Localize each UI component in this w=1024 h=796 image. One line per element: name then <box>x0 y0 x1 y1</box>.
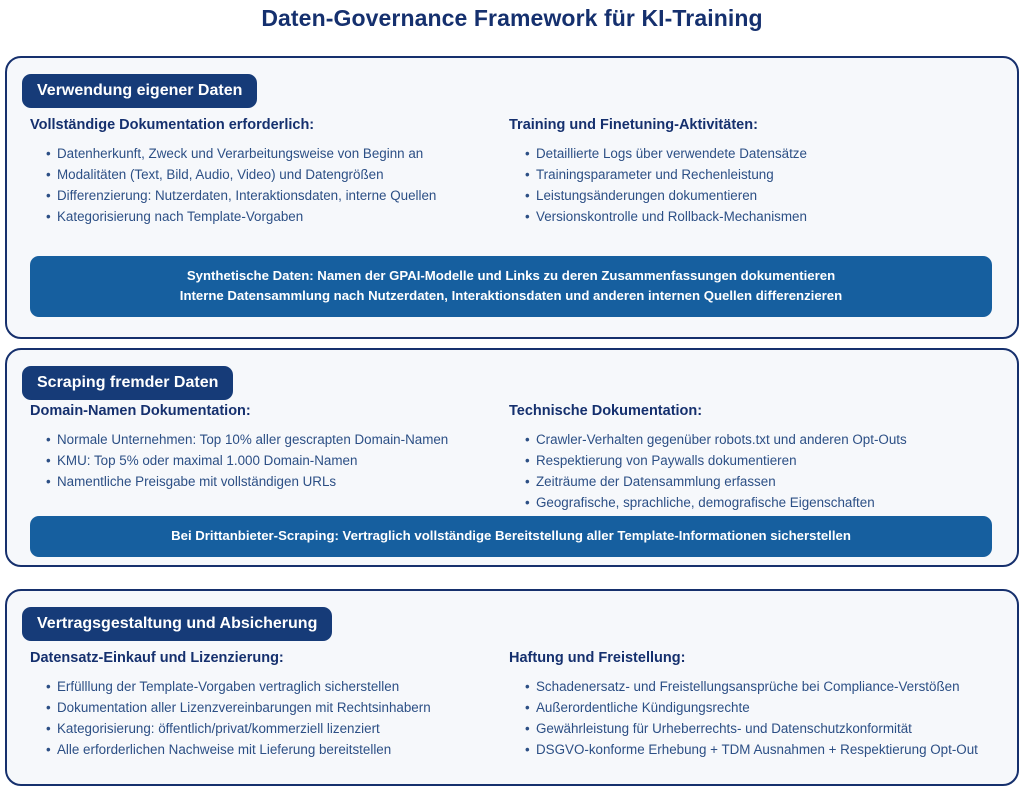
list-item: KMU: Top 5% oder maximal 1.000 Domain-Na… <box>46 450 504 471</box>
list-item: Zeiträume der Datensammlung erfassen <box>525 471 1017 492</box>
column-left: Vollständige Dokumentation erforderlich:… <box>7 116 504 227</box>
list-item: Leistungsänderungen dokumentieren <box>525 185 1017 206</box>
list-item: Alle erforderlichen Nachweise mit Liefer… <box>46 739 504 760</box>
section-columns: Datensatz-Einkauf und Lizenzierung: Erfü… <box>7 649 1017 760</box>
column-heading: Datensatz-Einkauf und Lizenzierung: <box>30 649 504 667</box>
section-banner: Bei Drittanbieter-Scraping: Vertraglich … <box>30 516 992 557</box>
bullet-list: Datenherkunft, Zweck und Verarbeitungswe… <box>30 143 504 227</box>
list-item: Namentliche Preisgabe mit vollständigen … <box>46 471 504 492</box>
bullet-list: Normale Unternehmen: Top 10% aller gescr… <box>30 429 504 492</box>
section-columns: Domain-Namen Dokumentation: Normale Unte… <box>7 402 1017 513</box>
column-right: Technische Dokumentation: Crawler-Verhal… <box>504 402 1017 513</box>
list-item: Geografische, sprachliche, demografische… <box>525 492 1017 513</box>
bullet-list: Detaillierte Logs über verwendete Datens… <box>509 143 1017 227</box>
column-heading: Haftung und Freistellung: <box>509 649 1017 667</box>
banner-line: Synthetische Daten: Namen der GPAI-Model… <box>44 266 978 286</box>
section-card-verwendung-eigener-daten: Verwendung eigener Daten Vollständige Do… <box>5 56 1019 339</box>
list-item: Respektierung von Paywalls dokumentieren <box>525 450 1017 471</box>
list-item: Erfülllung der Template-Vorgaben vertrag… <box>46 676 504 697</box>
section-card-scraping-fremder-daten: Scraping fremder Daten Domain-Namen Doku… <box>5 348 1019 567</box>
column-right: Haftung und Freistellung: Schadenersatz-… <box>504 649 1017 760</box>
list-item: Außerordentliche Kündigungsrechte <box>525 697 1017 718</box>
page-title: Daten-Governance Framework für KI-Traini… <box>0 3 1024 33</box>
section-tab-scraping-fremder-daten: Scraping fremder Daten <box>22 366 233 400</box>
bullet-list: Erfülllung der Template-Vorgaben vertrag… <box>30 676 504 760</box>
column-heading: Vollständige Dokumentation erforderlich: <box>30 116 504 134</box>
section-tab-verwendung-eigener-daten: Verwendung eigener Daten <box>22 74 257 108</box>
banner-line: Bei Drittanbieter-Scraping: Vertraglich … <box>44 526 978 546</box>
column-left: Domain-Namen Dokumentation: Normale Unte… <box>7 402 504 513</box>
list-item: Dokumentation aller Lizenzvereinbarungen… <box>46 697 504 718</box>
column-left: Datensatz-Einkauf und Lizenzierung: Erfü… <box>7 649 504 760</box>
section-columns: Vollständige Dokumentation erforderlich:… <box>7 116 1017 227</box>
list-item: Kategorisierung nach Template-Vorgaben <box>46 206 504 227</box>
section-card-vertragsgestaltung-und-absicherung: Vertragsgestaltung und Absicherung Daten… <box>5 589 1019 786</box>
column-right: Training und Finetuning-Aktivitäten: Det… <box>504 116 1017 227</box>
section-banner: Synthetische Daten: Namen der GPAI-Model… <box>30 256 992 317</box>
list-item: Schadenersatz- und Freistellungsansprüch… <box>525 676 1017 697</box>
column-heading: Training und Finetuning-Aktivitäten: <box>509 116 1017 134</box>
column-heading: Technische Dokumentation: <box>509 402 1017 420</box>
list-item: Trainingsparameter und Rechenleistung <box>525 164 1017 185</box>
section-tab-vertragsgestaltung-und-absicherung: Vertragsgestaltung und Absicherung <box>22 607 332 641</box>
list-item: Differenzierung: Nutzerdaten, Interaktio… <box>46 185 504 206</box>
list-item: Gewährleistung für Urheberrechts- und Da… <box>525 718 1017 739</box>
column-heading: Domain-Namen Dokumentation: <box>30 402 504 420</box>
banner-line: Interne Datensammlung nach Nutzerdaten, … <box>44 286 978 306</box>
bullet-list: Schadenersatz- und Freistellungsansprüch… <box>509 676 1017 760</box>
list-item: Kategorisierung: öffentlich/privat/komme… <box>46 718 504 739</box>
list-item: Normale Unternehmen: Top 10% aller gescr… <box>46 429 504 450</box>
list-item: Detaillierte Logs über verwendete Datens… <box>525 143 1017 164</box>
framework-infographic: Daten-Governance Framework für KI-Traini… <box>0 0 1024 796</box>
list-item: Datenherkunft, Zweck und Verarbeitungswe… <box>46 143 504 164</box>
list-item: Crawler-Verhalten gegenüber robots.txt u… <box>525 429 1017 450</box>
list-item: Versionskontrolle und Rollback-Mechanism… <box>525 206 1017 227</box>
list-item: DSGVO-konforme Erhebung + TDM Ausnahmen … <box>525 739 1017 760</box>
list-item: Modalitäten (Text, Bild, Audio, Video) u… <box>46 164 504 185</box>
bullet-list: Crawler-Verhalten gegenüber robots.txt u… <box>509 429 1017 513</box>
